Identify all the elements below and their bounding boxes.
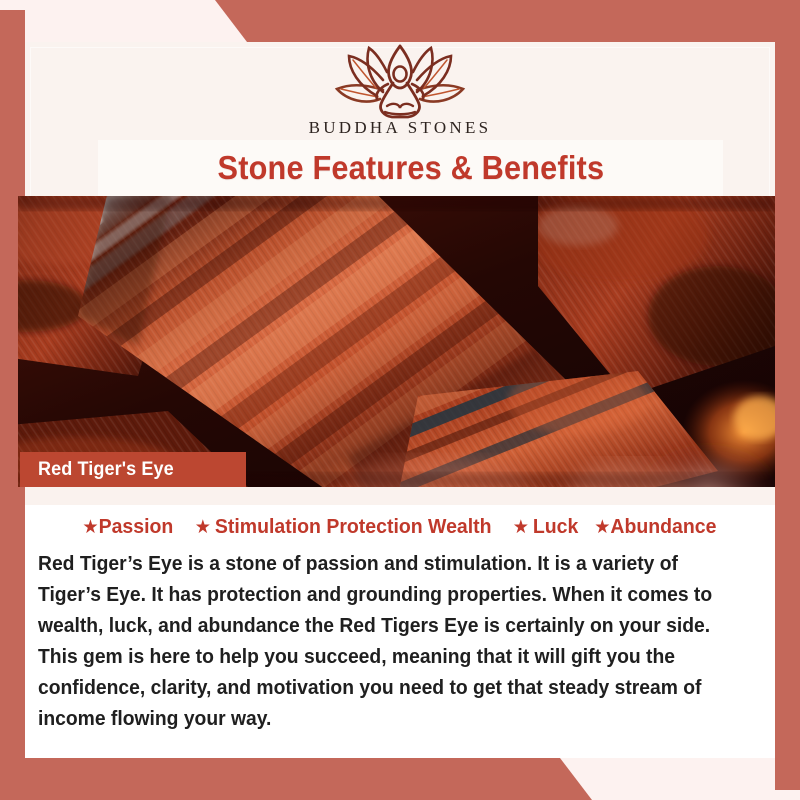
brand-name: BUDDHA STONES [309, 118, 492, 138]
stone-name-text: Red Tiger's Eye [38, 459, 174, 481]
star-icon: ★ [513, 517, 529, 538]
page-title: Stone Features & Benefits [217, 149, 604, 187]
red-tigers-eye-beads-photo [18, 196, 775, 487]
photo-artwork [18, 196, 775, 487]
content-top-strip [25, 487, 775, 505]
keyword-item: ★Abundance [595, 515, 717, 539]
poster-root: BUDDHA STONES Stone Features & Benefits [0, 0, 800, 800]
frame-band-bottom-left [0, 758, 800, 800]
brand-header: BUDDHA STONES [25, 42, 775, 152]
keyword-item: ★ Luck [513, 515, 579, 539]
frame-band-right [775, 0, 800, 790]
stone-name-banner: Red Tiger's Eye [20, 452, 246, 487]
keyword-label: Stimulation Protection Wealth [215, 515, 492, 538]
frame-band-top-right [0, 0, 800, 42]
description-paragraph: Red Tiger’s Eye is a stone of passion an… [38, 549, 735, 735]
keyword-list: ★Passion ★ Stimulation Protection Wealth… [25, 515, 775, 539]
keyword-label: Passion [99, 515, 174, 538]
content-panel: ★Passion ★ Stimulation Protection Wealth… [25, 487, 775, 758]
keyword-label: Luck [533, 515, 578, 538]
lotus-meditation-icon [325, 42, 475, 122]
title-band: Stone Features & Benefits [98, 140, 723, 196]
star-icon: ★ [82, 517, 98, 538]
star-icon: ★ [595, 517, 611, 538]
keyword-item: ★Passion [82, 515, 173, 539]
keyword-item: ★ Stimulation Protection Wealth [195, 515, 492, 539]
keyword-label: Abundance [611, 515, 717, 538]
star-icon: ★ [195, 517, 211, 538]
